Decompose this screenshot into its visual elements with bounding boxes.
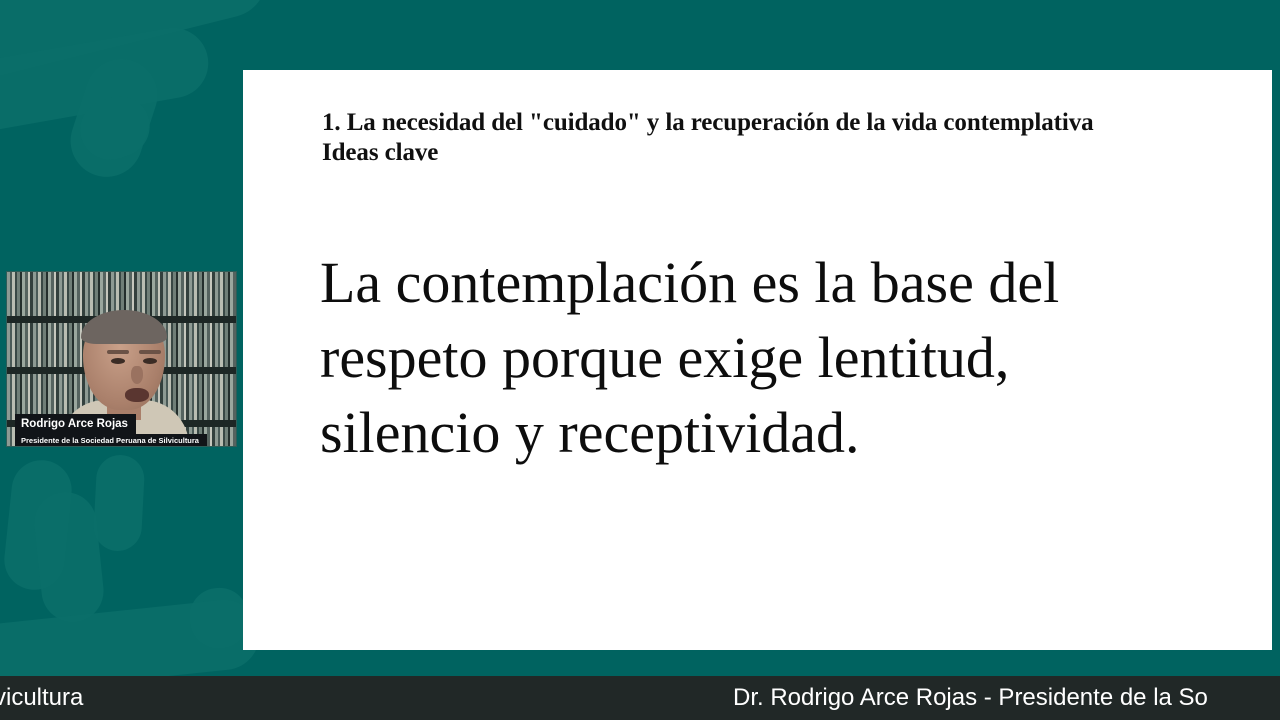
background-blob-shape bbox=[93, 454, 146, 552]
eyebrow-left bbox=[107, 350, 129, 354]
participant-video-tile[interactable]: Rodrigo Arce Rojas Presidente de la Soci… bbox=[6, 271, 237, 447]
eye-left bbox=[111, 358, 125, 364]
slide-title: 1. La necesidad del "cuidado" y la recup… bbox=[322, 108, 1202, 168]
participant-name-badge: Rodrigo Arce Rojas bbox=[15, 414, 136, 435]
ticker-text-right: Dr. Rodrigo Arce Rojas - Presidente de l… bbox=[733, 683, 1208, 713]
eye-right bbox=[143, 358, 157, 364]
slide-body-text: La contemplación es la base del respeto … bbox=[320, 245, 1110, 470]
lower-third-ticker: vicultura Dr. Rodrigo Arce Rojas - Presi… bbox=[0, 676, 1280, 720]
participant-hair bbox=[81, 310, 167, 344]
presentation-slide[interactable]: 1. La necesidad del "cuidado" y la recup… bbox=[243, 70, 1272, 650]
ticker-text-left: vicultura bbox=[0, 683, 83, 713]
broadcast-screen: 1. La necesidad del "cuidado" y la recup… bbox=[0, 0, 1280, 720]
eyebrow-right bbox=[139, 350, 161, 354]
mouth bbox=[125, 388, 149, 402]
participant-role-badge: Presidente de la Sociedad Peruana de Sil… bbox=[15, 434, 207, 447]
slide-title-line-2: Ideas clave bbox=[322, 138, 1202, 168]
nose bbox=[131, 366, 143, 384]
slide-title-line-1: 1. La necesidad del "cuidado" y la recup… bbox=[322, 108, 1202, 138]
